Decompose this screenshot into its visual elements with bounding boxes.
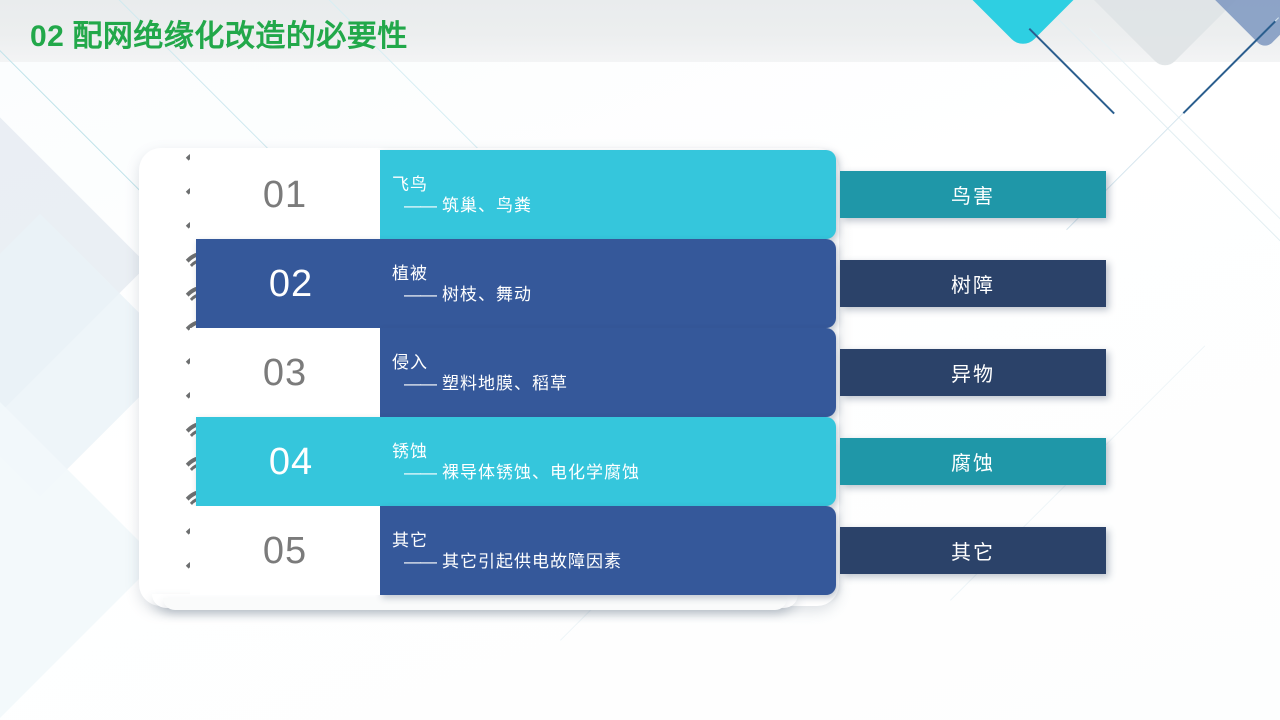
category-label-text: 腐蚀 [951,447,995,476]
row-subtitle-text: 筑巢、鸟粪 [442,196,532,215]
row-dash: —— [404,463,436,482]
row-index-plate: 05 [190,506,380,595]
row-subtitle-text: 其它引起供电故障因素 [442,552,622,571]
row-dash: —— [404,552,436,571]
category-label-text: 树障 [951,269,995,298]
category-label-text: 鸟害 [951,180,995,209]
row-index-number: 05 [263,532,307,570]
category-label[interactable]: 腐蚀 [840,438,1106,485]
row-subtitle: ——塑料地膜、稻草 [404,373,822,394]
row-title: 植被 [392,263,822,284]
row-subtitle: ——筑巢、鸟粪 [404,195,822,216]
row-text: 其它——其它引起供电故障因素 [392,506,822,595]
row-subtitle: ——树枝、舞动 [404,284,822,305]
category-label-text: 其它 [951,536,995,565]
row-text: 植被——树枝、舞动 [392,239,822,328]
row-title: 飞鸟 [392,174,822,195]
category-label-text: 异物 [951,358,995,387]
row-text: 飞鸟——筑巢、鸟粪 [392,150,822,239]
row-title: 其它 [392,530,822,551]
category-label[interactable]: 树障 [840,260,1106,307]
row-text: 锈蚀——裸导体锈蚀、电化学腐蚀 [392,417,822,506]
row-dash: —— [404,374,436,393]
row-index-plate: 01 [190,150,380,239]
row-dash: —— [404,196,436,215]
row-subtitle-text: 塑料地膜、稻草 [442,374,568,393]
category-label[interactable]: 鸟害 [840,171,1106,218]
category-label[interactable]: 异物 [840,349,1106,396]
row-index-plate: 02 [196,239,386,328]
list-item[interactable]: 01飞鸟——筑巢、鸟粪 [190,150,836,239]
row-subtitle: ——裸导体锈蚀、电化学腐蚀 [404,462,822,483]
row-subtitle-text: 裸导体锈蚀、电化学腐蚀 [442,463,640,482]
row-index-number: 03 [263,354,307,392]
row-index-number: 04 [269,443,313,481]
list-item[interactable]: 03侵入——塑料地膜、稻草 [190,328,836,417]
slide-canvas: 02配网绝缘化改造的必要性 01飞鸟——筑巢、鸟粪鸟害02植被——树枝、舞动树障… [0,0,1280,720]
row-index-number: 01 [263,176,307,214]
item-rows: 01飞鸟——筑巢、鸟粪鸟害02植被——树枝、舞动树障03侵入——塑料地膜、稻草异… [0,0,1280,720]
row-title: 锈蚀 [392,441,822,462]
category-label[interactable]: 其它 [840,527,1106,574]
row-title: 侵入 [392,352,822,373]
row-text: 侵入——塑料地膜、稻草 [392,328,822,417]
list-item[interactable]: 05其它——其它引起供电故障因素 [190,506,836,595]
row-index-plate: 04 [196,417,386,506]
row-subtitle: ——其它引起供电故障因素 [404,551,822,572]
row-index-number: 02 [269,265,313,303]
list-item[interactable]: 02植被——树枝、舞动 [196,239,836,328]
row-index-plate: 03 [190,328,380,417]
list-item[interactable]: 04锈蚀——裸导体锈蚀、电化学腐蚀 [196,417,836,506]
row-subtitle-text: 树枝、舞动 [442,285,532,304]
row-dash: —— [404,285,436,304]
